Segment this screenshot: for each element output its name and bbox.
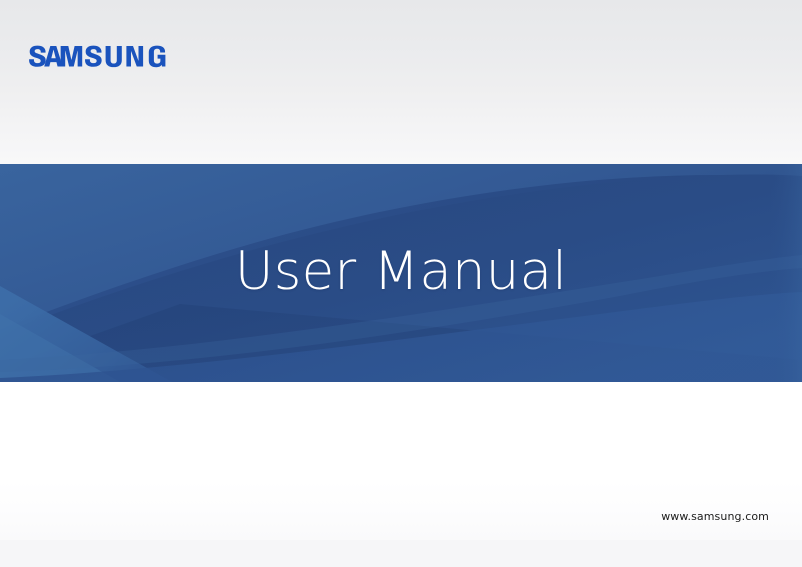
cover-banner: User Manual (0, 164, 802, 382)
page-title: User Manual (0, 164, 802, 382)
manual-cover-page: User Manual www.samsung.com (0, 0, 802, 567)
page-header (0, 0, 802, 164)
samsung-wordmark-logo (29, 45, 175, 70)
samsung-website-url[interactable]: www.samsung.com (661, 510, 769, 523)
footer-band (0, 540, 802, 567)
